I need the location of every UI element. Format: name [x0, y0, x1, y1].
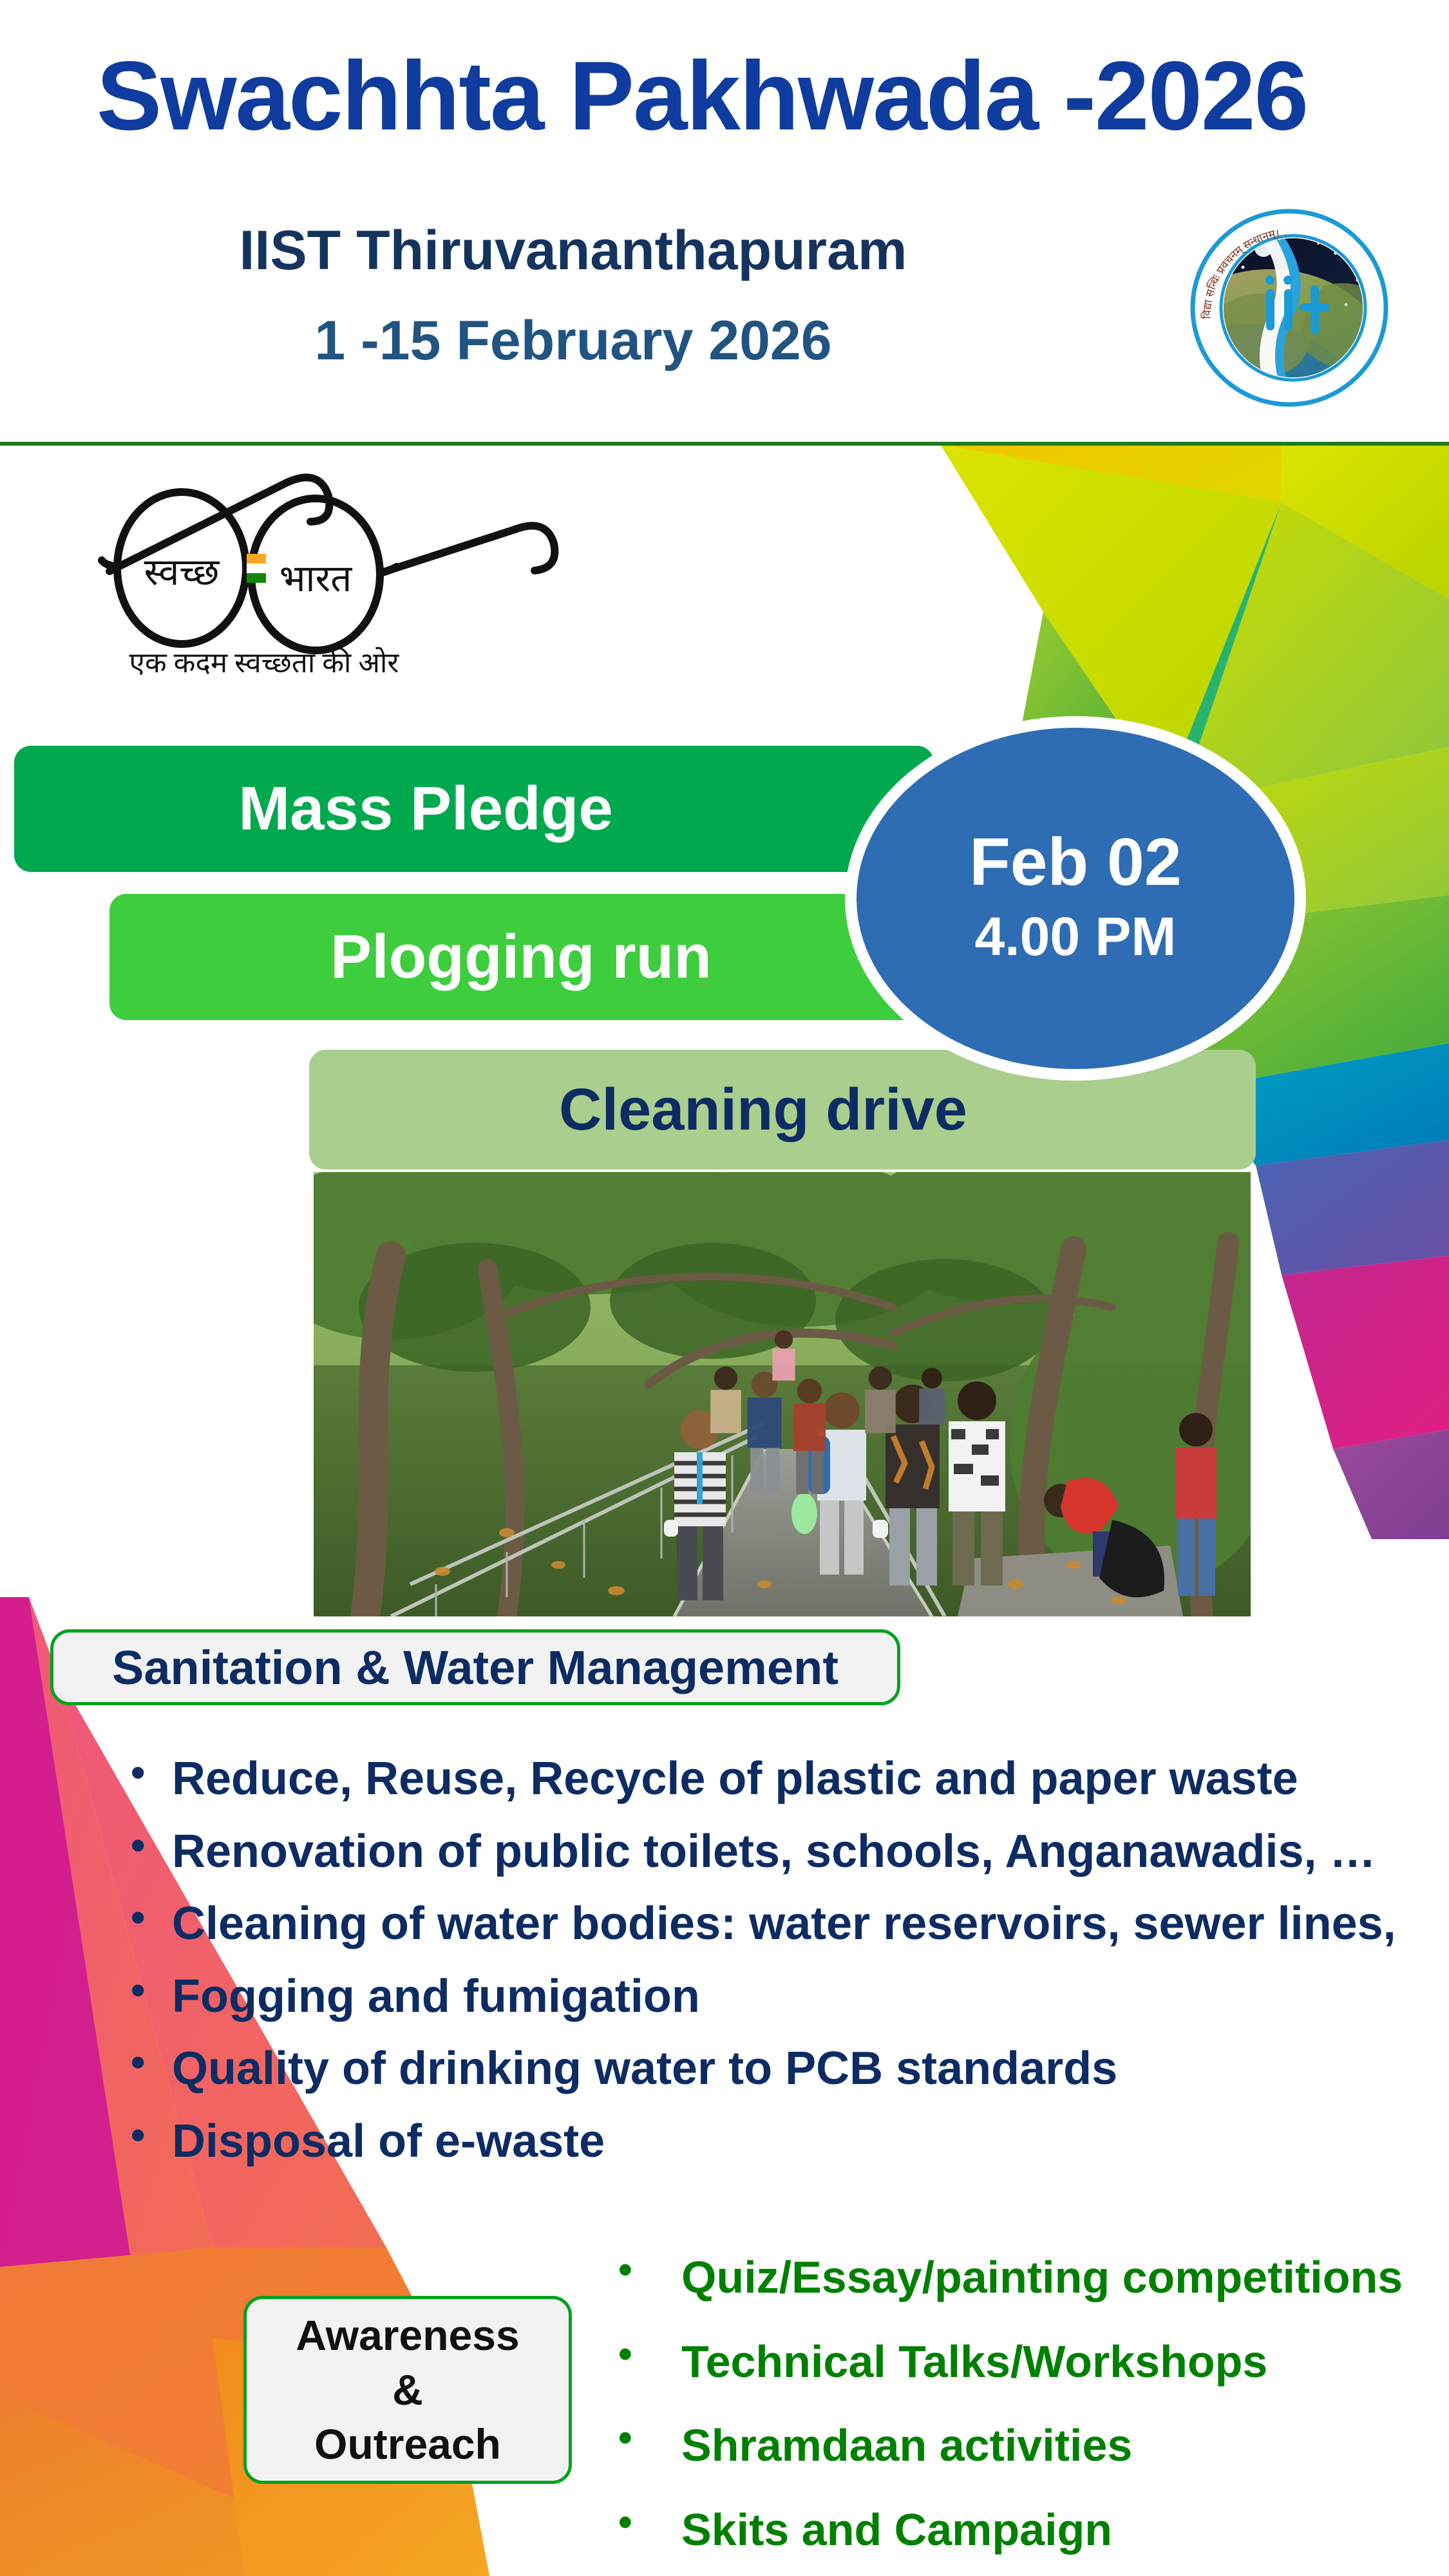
date-badge: Feb 02 4.00 PM: [857, 728, 1294, 1069]
event-dates: 1 -15 February 2026: [0, 309, 1146, 373]
list-item: Shramdaan activities: [612, 2422, 1449, 2470]
list-item: Renovation of public toilets, schools, A…: [126, 1828, 1449, 1877]
section-heading-line3: Outreach: [314, 2417, 501, 2471]
section-heading-line2: &: [392, 2363, 423, 2417]
list-item: Skits and Campaign: [612, 2506, 1449, 2554]
list-item: Fogging and fumigation: [126, 1973, 1449, 2022]
poster-header: Swachhta Pakhwada -2026 IIST Thiruvanant…: [0, 0, 1449, 444]
date-badge-time: 4.00 PM: [975, 904, 1177, 969]
event-banner-mass-pledge[interactable]: Mass Pledge: [14, 746, 934, 872]
section-heading-awareness: Awareness & Outreach: [243, 2296, 572, 2484]
list-item: Quality of drinking water to PCB standar…: [126, 2045, 1449, 2094]
swachh-bharat-logo-icon: स्वच्छ भारत एक कदम स्वच्छता की ओर: [71, 459, 560, 681]
sanitation-bullet-list: Reduce, Reuse, Recycle of plastic and pa…: [126, 1755, 1449, 2190]
list-item: Quiz/Essay/painting competitions: [612, 2254, 1449, 2302]
poster-canvas: Swachhta Pakhwada -2026 IIST Thiruvanant…: [0, 0, 1449, 2576]
swachh-lens-text: स्वच्छ: [144, 551, 220, 593]
section-heading-line1: Awareness: [296, 2308, 519, 2362]
event-banner-cleaning-drive[interactable]: Cleaning drive: [309, 1050, 1256, 1170]
swachh-bharat-tagline: एक कदम स्वच्छता की ओर: [129, 647, 400, 679]
list-item: Reduce, Reuse, Recycle of plastic and pa…: [126, 1755, 1449, 1804]
awareness-bullet-list: Quiz/Essay/painting competitions Technic…: [612, 2254, 1449, 2576]
cleaning-drive-photo: [314, 1172, 1251, 1616]
list-item: Disposal of e-waste: [126, 2117, 1449, 2166]
header-divider: [0, 442, 1449, 446]
date-badge-day: Feb 02: [969, 828, 1181, 898]
organisation-name: IIST Thiruvananthapuram: [0, 219, 1146, 283]
bharat-lens-text: भारत: [279, 558, 353, 600]
section-heading-label: Sanitation & Water Management: [112, 1640, 838, 1695]
event-banner-label: Mass Pledge: [14, 778, 934, 840]
list-item: Cleaning of water bodies: water reservoi…: [126, 1900, 1449, 1949]
list-item: Technical Talks/Workshops: [612, 2338, 1449, 2386]
event-banner-label: Cleaning drive: [309, 1080, 1256, 1139]
page-title: Swachhta Pakhwada -2026: [0, 40, 1404, 153]
iist-logo-icon: विद्या सन्धिः प्रवचनम् सन्धानम्।: [1173, 208, 1405, 408]
section-heading-sanitation: Sanitation & Water Management: [50, 1629, 900, 1705]
